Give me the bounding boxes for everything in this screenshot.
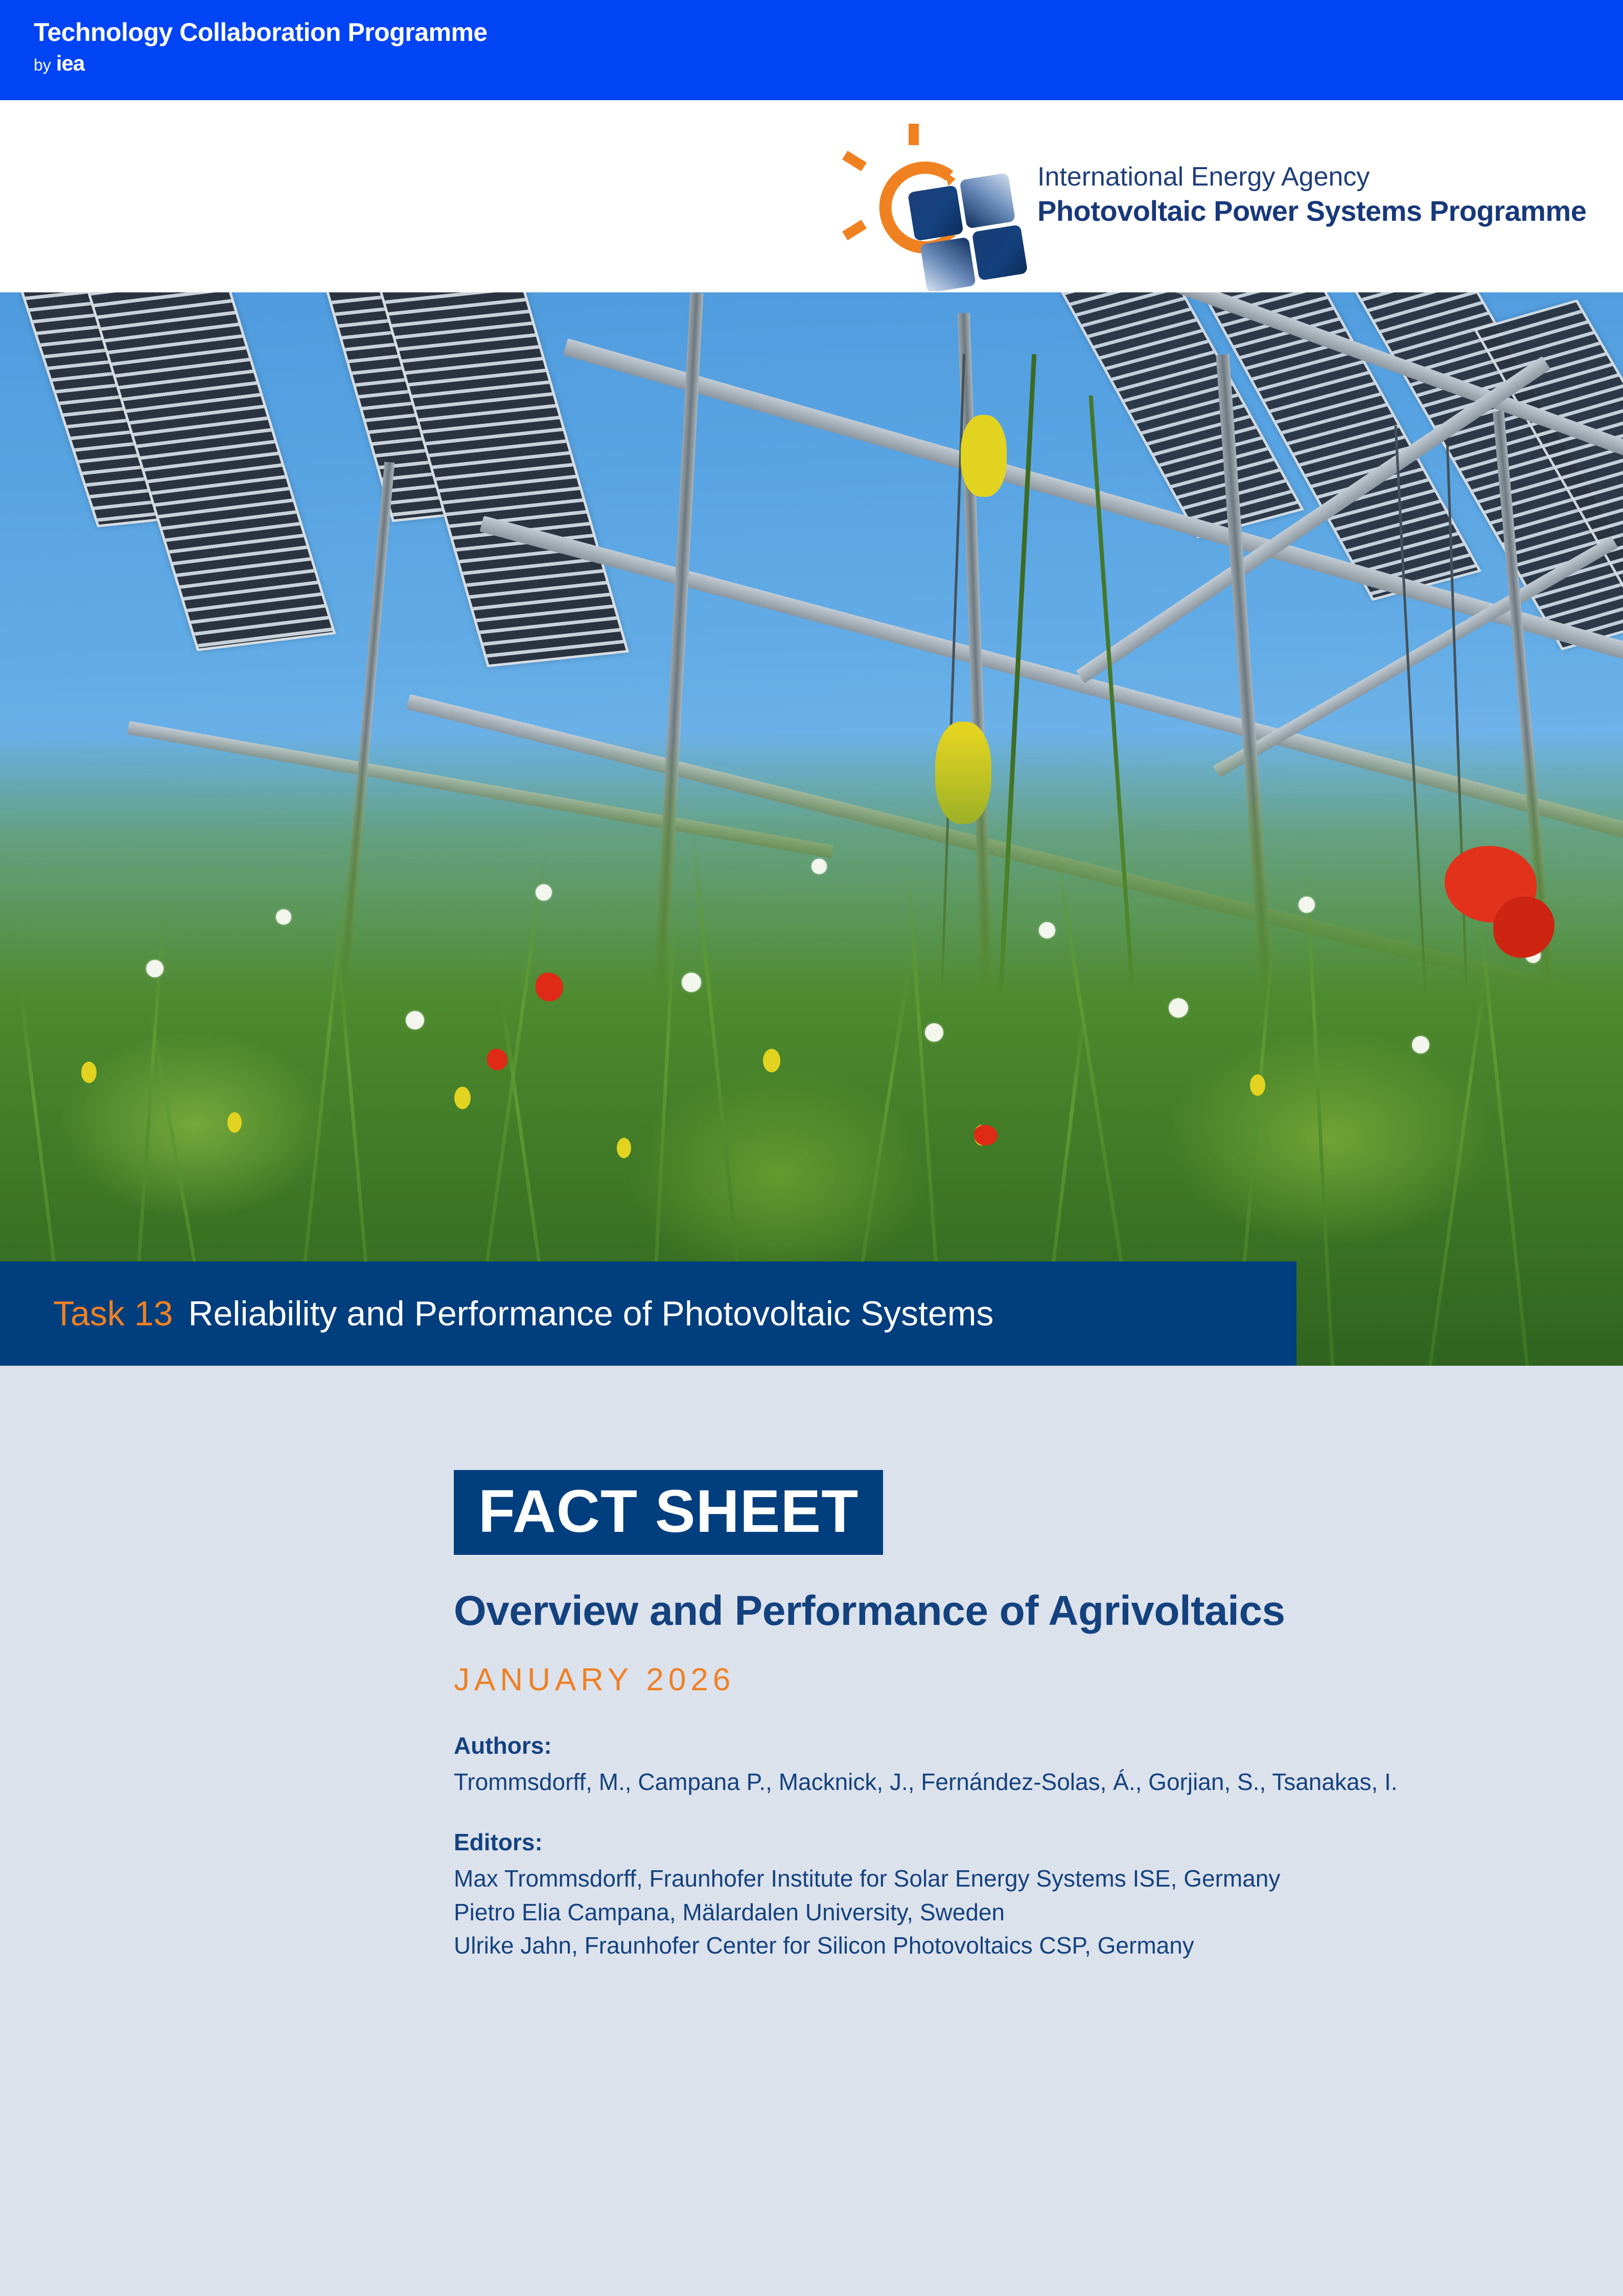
- red-poppy-large-petal: [1493, 897, 1555, 958]
- red-poppy: [487, 1049, 507, 1070]
- yellow-flower: [617, 1138, 631, 1158]
- white-flower: [925, 1023, 943, 1042]
- editor-entry: Max Trommsdorff, Fraunhofer Institute fo…: [454, 1862, 1537, 1895]
- white-flower: [1039, 922, 1055, 938]
- editor-entry: Pietro Elia Campana, Mälardalen Universi…: [454, 1896, 1537, 1929]
- iea-wordmark: iea: [56, 53, 84, 74]
- task-number-label: Task 13: [53, 1294, 173, 1334]
- publication-date: JANUARY 2026: [454, 1662, 1578, 1698]
- cover-info-panel: PVPS FACT SHEET Overview and Performance…: [0, 1366, 1623, 2296]
- cover-text-content: FACT SHEET Overview and Performance of A…: [454, 1470, 1578, 1962]
- pvps-vertical-wordmark: PVPS: [0, 1327, 4, 1918]
- white-flower: [146, 960, 164, 977]
- authors-list: Trommsdorff, M., Campana P., Macknick, J…: [454, 1765, 1537, 1799]
- yellow-flower: [763, 1049, 780, 1072]
- editors-block: Editors: Max Trommsdorff, Fraunhofer Ins…: [454, 1826, 1578, 1962]
- red-poppy: [536, 973, 563, 1001]
- editors-list: Max Trommsdorff, Fraunhofer Institute fo…: [454, 1862, 1537, 1962]
- yellow-flower: [454, 1087, 471, 1109]
- international-energy-agency-label: International Energy Agency: [1037, 163, 1586, 192]
- red-poppy: [974, 1125, 998, 1145]
- authors-heading: Authors:: [454, 1730, 1578, 1761]
- fact-sheet-label: FACT SHEET: [478, 1481, 859, 1542]
- authors-block: Authors: Trommsdorff, M., Campana P., Ma…: [454, 1730, 1578, 1799]
- white-flower: [1412, 1036, 1429, 1053]
- editors-heading: Editors:: [454, 1826, 1578, 1858]
- iea-pvps-logo-icon: [818, 123, 1032, 291]
- iea-pvps-logo-text: International Energy Agency Photovoltaic…: [1037, 163, 1586, 228]
- editor-entry: Ulrike Jahn, Fraunhofer Center for Silic…: [454, 1929, 1537, 1962]
- tcp-title: Technology Collaboration Programme: [34, 17, 488, 47]
- white-flower: [1169, 998, 1188, 1018]
- iea-pvps-logo: International Energy Agency Photovoltaic…: [818, 123, 1594, 276]
- yellow-flower-cluster-top: [961, 415, 1007, 497]
- yellow-flower: [1250, 1074, 1265, 1096]
- fact-sheet-badge: FACT SHEET: [454, 1470, 883, 1555]
- white-flower: [536, 884, 552, 901]
- yellow-flower: [227, 1112, 242, 1133]
- white-flower: [406, 1011, 424, 1029]
- technology-collaboration-programme-bar: Technology Collaboration Programme by ie…: [0, 0, 1623, 100]
- white-flower: [682, 973, 701, 992]
- task-banner: Task 13 Reliability and Performance of P…: [0, 1261, 1296, 1366]
- white-flower: [1299, 897, 1315, 913]
- document-cover-page: Technology Collaboration Programme by ie…: [0, 0, 1623, 2296]
- photovoltaic-power-systems-programme-label: Photovoltaic Power Systems Programme: [1037, 195, 1586, 227]
- tcp-by-word: by: [34, 56, 51, 75]
- tcp-by-iea-lockup: by iea: [34, 53, 84, 75]
- cover-hero-photo: [0, 292, 1623, 1366]
- task-description-label: Reliability and Performance of Photovolt…: [188, 1294, 993, 1334]
- white-flower: [276, 909, 291, 925]
- white-flower: [812, 859, 827, 874]
- yellow-flower: [81, 1062, 97, 1083]
- document-title: Overview and Performance of Agrivoltaics: [454, 1587, 1425, 1636]
